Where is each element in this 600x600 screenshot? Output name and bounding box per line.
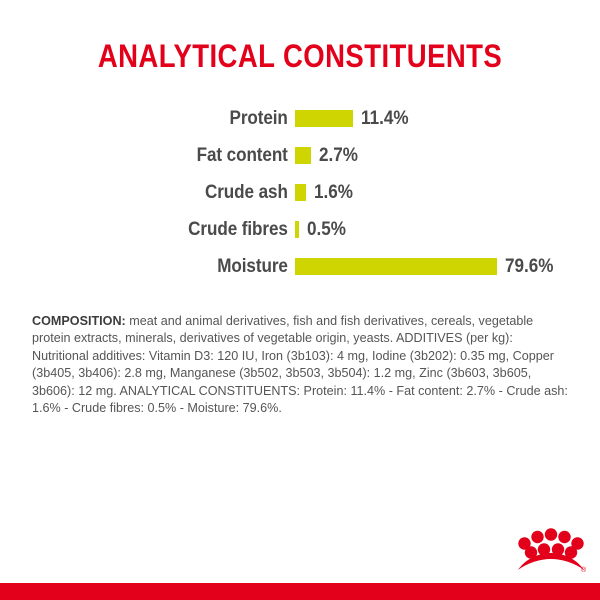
composition-lead-label: COMPOSITION: [32,314,126,328]
chart-row-moisture: Moisture 79.6% [0,248,600,285]
page-title: ANALYTICAL CONSTITUENTS [42,38,558,75]
bar-track-crude-ash: 1.6% [295,182,600,204]
composition-text-block: COMPOSITION: meat and animal derivatives… [32,313,568,417]
nutrition-panel: ANALYTICAL CONSTITUENTS Protein 11.4% Fa… [0,0,600,600]
footer-red-bar [0,583,600,600]
chart-row-crude-ash: Crude ash 1.6% [0,174,600,211]
bar-value-crude-ash: 1.6% [314,182,353,204]
bar-fill-moisture [295,258,497,275]
bar-track-fat-content: 2.7% [295,145,600,167]
analytical-constituents-chart: Protein 11.4% Fat content 2.7% Crude ash… [0,100,600,285]
bar-label-crude-fibres: Crude fibres [30,219,296,241]
bar-fill-protein [295,110,353,127]
bar-label-moisture: Moisture [30,256,296,278]
bar-fill-crude-ash [295,184,306,201]
bar-track-moisture: 79.6% [295,256,600,278]
chart-row-fat-content: Fat content 2.7% [0,137,600,174]
bar-label-protein: Protein [30,108,296,130]
chart-row-crude-fibres: Crude fibres 0.5% [0,211,600,248]
chart-row-protein: Protein 11.4% [0,100,600,137]
composition-body-text: meat and animal derivatives, fish and fi… [32,314,568,415]
bar-fill-crude-fibres [295,221,299,238]
bar-value-protein: 11.4% [361,108,409,130]
bar-value-moisture: 79.6% [505,256,553,278]
bar-value-fat-content: 2.7% [319,145,358,167]
bar-fill-fat-content [295,147,311,164]
royal-canin-crown-icon: ® [516,527,586,575]
bar-label-fat-content: Fat content [30,145,296,167]
bar-label-crude-ash: Crude ash [30,182,296,204]
bar-track-crude-fibres: 0.5% [295,219,600,241]
bar-value-crude-fibres: 0.5% [307,219,346,241]
bar-track-protein: 11.4% [295,108,600,130]
svg-text:®: ® [581,566,586,574]
